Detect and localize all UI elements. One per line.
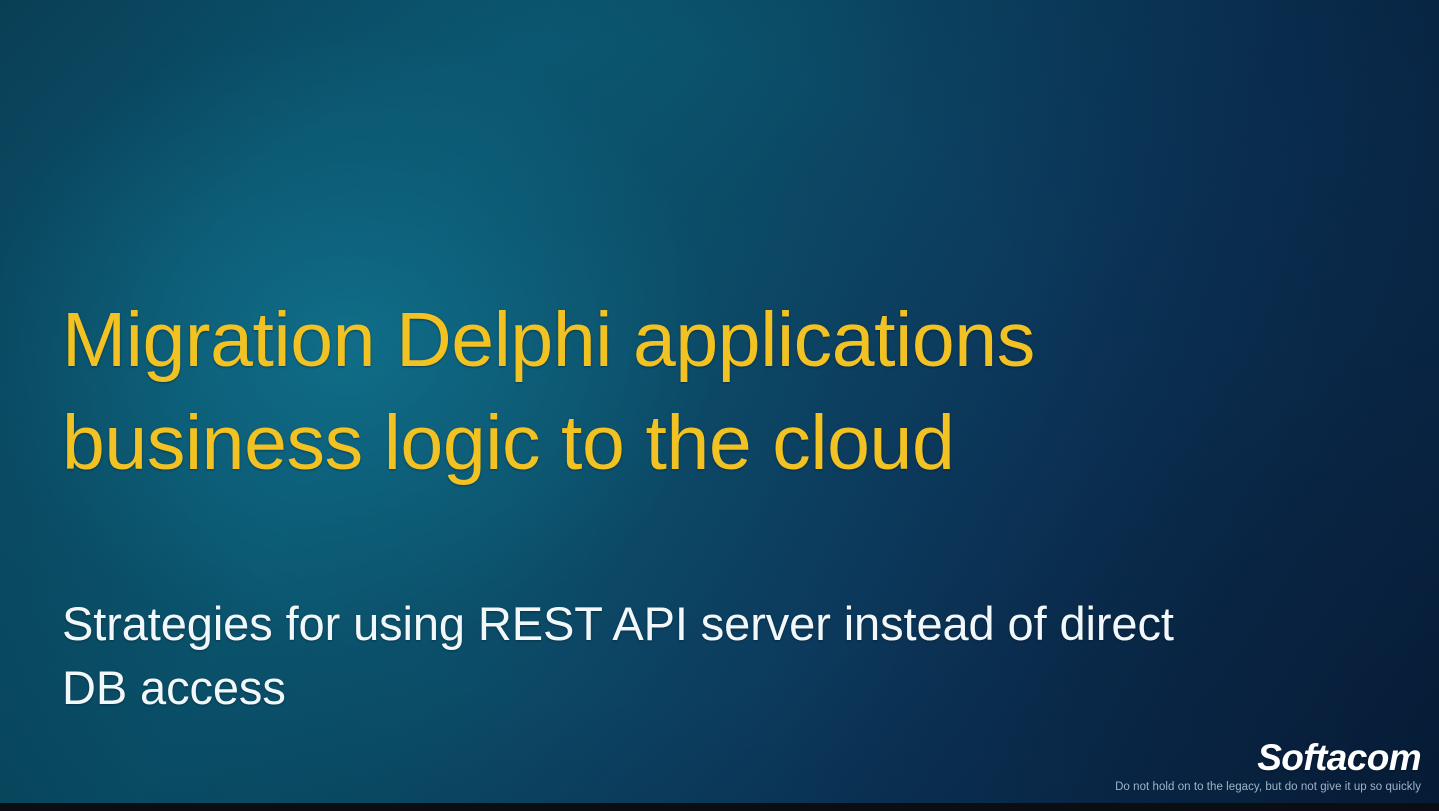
slide-subtitle: Strategies for using REST API server ins…	[62, 592, 1362, 720]
slide-content: Migration Delphi applications business l…	[0, 0, 1439, 811]
softacom-logo: Softacom Do not hold on to the legacy, b…	[1115, 739, 1421, 795]
softacom-wordmark: Softacom	[1115, 739, 1421, 777]
title-line-1: Migration Delphi applications	[62, 289, 1242, 392]
subtitle-line-1: Strategies for using REST API server ins…	[62, 592, 1362, 656]
subtitle-line-2: DB access	[62, 656, 1362, 720]
slide-title: Migration Delphi applications business l…	[62, 289, 1242, 495]
softacom-tagline: Do not hold on to the legacy, but do not…	[1115, 779, 1421, 795]
presentation-slide: Migration Delphi applications business l…	[0, 0, 1439, 811]
slide-bottom-bar	[0, 803, 1439, 811]
title-line-2: business logic to the cloud	[62, 392, 1242, 495]
